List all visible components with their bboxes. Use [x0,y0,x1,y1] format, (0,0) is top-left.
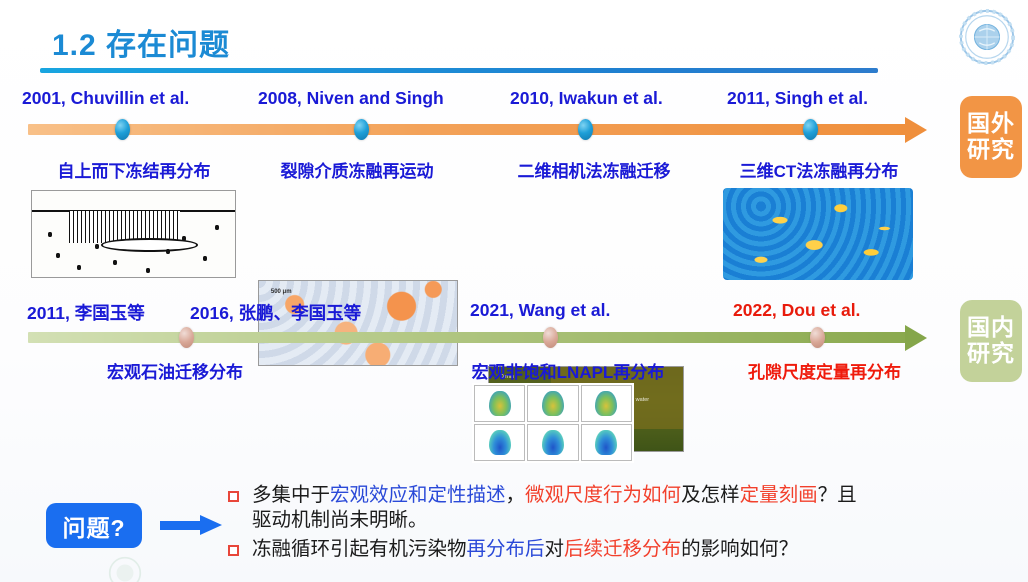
question-text-run: 驱动机制尚未明晰。 [252,509,428,531]
question-text-run: 及怎样 [681,484,740,506]
sketch-speck [113,260,117,265]
timeline2-date-4: 2022, Dou et al. [733,300,860,321]
sketch-speck [56,253,60,258]
figure-3d-ct-rendering [723,188,913,280]
sketch-speck [203,256,207,261]
timeline1-arrowhead [905,117,927,143]
arrow-shaft [160,521,202,530]
question-text-run: ， [506,484,526,506]
timeline2-node-3 [810,327,825,348]
contour-cell [527,385,578,422]
question-text-run: 微观尺度行为如何 [525,484,681,506]
contour-plume [595,430,617,455]
badge-domestic-research: 国内 研究 [960,300,1022,382]
timeline1-node-1 [115,119,130,140]
figure-lnapl-contour-grid [472,383,634,463]
question-item-1-line-1: 多集中于宏观效应和定性描述，微观尺度行为如何及怎样定量刻画？且 [252,483,857,508]
blue-right-arrow-icon [160,515,222,535]
page-title: 1.2 存在问题 [52,20,230,64]
title-underline [40,68,878,73]
question-text-run: 冻融循环引起有机污染物 [252,538,467,560]
timeline2-date-1: 2011, 李国玉等 [27,300,145,325]
contour-plume [489,430,511,455]
question-text-run: 后续迁移分布 [564,538,681,560]
badge-domestic-line1: 国内 [967,315,1015,341]
timeline1-caption-3: 二维相机法冻融迁移 [490,157,698,182]
question-text-run: 宏观效应和定性描述 [330,484,506,506]
timeline1-axis [28,124,908,135]
question-item-2-line-1: 冻融循环引起有机污染物再分布后对后续迁移分布的影响如何？ [252,537,798,562]
contour-cell [581,424,632,461]
timeline1-node-2 [354,119,369,140]
question-text-run: 再分布后 [467,538,545,560]
badge-foreign-research: 国外 研究 [960,96,1022,178]
contour-plume [542,430,564,455]
timeline1-caption-1: 自上而下冻结再分布 [30,157,238,182]
contour-cell [581,385,632,422]
timeline1-caption-4: 三维CT法冻融再分布 [715,157,923,182]
sketch-speck [95,244,99,249]
micrograph-scale-label: 500 μm [271,289,292,295]
sketch-speck [48,232,52,237]
timeline2-date-2: 2016, 张鹏、李国玉等 [190,300,361,325]
timeline1-node-3 [578,119,593,140]
timeline2-node-1 [179,327,194,348]
question-text-run: 多集中于 [252,484,330,506]
contour-cell [474,424,525,461]
timeline2-arrowhead [905,325,927,351]
contour-plume [595,391,617,416]
timeline1-date-3: 2010, Iwakun et al. [510,88,663,109]
contour-plume [542,391,564,416]
timeline1-date-4: 2011, Singh et al. [727,88,868,109]
badge-foreign-line2: 研究 [967,137,1015,163]
timeline1-caption-2: 裂隙介质冻融再运动 [253,157,461,182]
timeline1-date-1: 2001, Chuvillin et al. [22,88,189,109]
sketch-speck [77,265,81,270]
slide-canvas: 1.2 存在问题 2001, Chuvillin et al. 2008, Ni… [0,0,1028,582]
question-bullet-1 [228,491,239,502]
timeline2-caption-3: 孔隙尺度定量再分布 [717,358,932,383]
badge-foreign-line1: 国外 [967,111,1015,137]
timeline2-caption-2: 宏观非饱和LNAPL再分布 [428,358,708,383]
timeline2-node-2 [543,327,558,348]
faint-watermark [108,556,142,582]
question-text-run: 的影响如何？ [681,538,798,560]
university-seal-logo [958,8,1016,66]
figure-frost-redistribution-sketch [31,190,236,278]
contour-plume [489,391,511,416]
sketch-speck [166,249,170,254]
question-text-run: 定量刻画 [740,484,818,506]
timeline2-axis [28,332,908,343]
timeline2-caption-1: 宏观石油迁移分布 [60,358,290,383]
sketch-speck [146,268,150,273]
timeline2-date-3: 2021, Wang et al. [470,300,610,321]
question-bullet-2 [228,545,239,556]
badge-domestic-line2: 研究 [967,341,1015,367]
contour-cell [474,385,525,422]
timeline1-node-4 [803,119,818,140]
question-badge: 问题? [46,503,142,548]
contour-cell [527,424,578,461]
sketch-speck [182,236,186,241]
arrow-head [200,515,222,535]
question-text-run: 对 [545,538,565,560]
sketch-speck [215,225,219,230]
timeline1-date-2: 2008, Niven and Singh [258,88,444,109]
question-text-run: ？且 [818,484,857,506]
question-item-1-line-2: 驱动机制尚未明晰。 [252,508,428,533]
